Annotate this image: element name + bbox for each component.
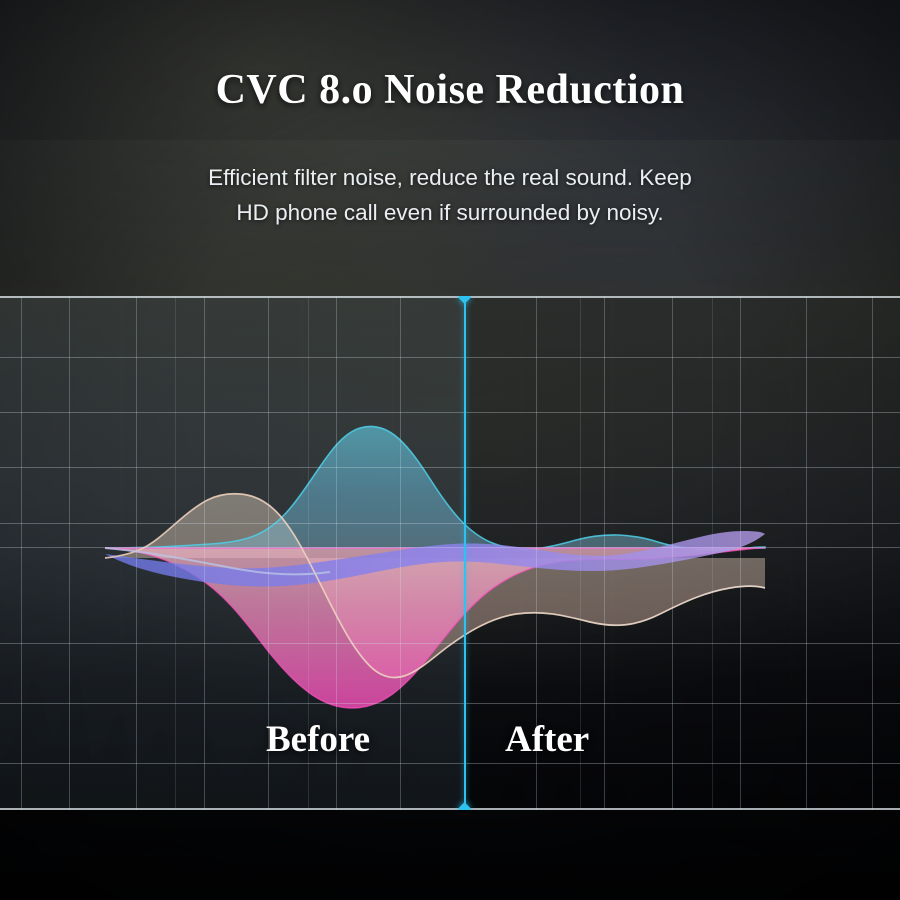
- grid-line-v: [175, 296, 176, 810]
- grid-line-h: [0, 763, 900, 764]
- grid-line-v: [672, 296, 673, 810]
- grid-line-h-top: [0, 296, 900, 298]
- page-subtitle: Efficient filter noise, reduce the real …: [0, 160, 900, 230]
- grid-line-v: [806, 296, 807, 810]
- grid-line-h: [0, 467, 900, 468]
- grid-line-v: [740, 296, 741, 810]
- grid-line-v: [204, 296, 205, 810]
- grid-line-h: [0, 523, 900, 524]
- before-after-divider[interactable]: [464, 296, 466, 810]
- waveform-chart-panel: [0, 296, 900, 810]
- label-before: Before: [266, 718, 370, 761]
- subtitle-line-2: HD phone call even if surrounded by nois…: [0, 195, 900, 230]
- chart-grid: [0, 296, 900, 810]
- grid-line-h-baseline: [0, 547, 900, 548]
- page-title: CVC 8.o Noise Reduction: [0, 66, 900, 114]
- subtitle-line-1: Efficient filter noise, reduce the real …: [0, 160, 900, 195]
- grid-line-v: [69, 296, 70, 810]
- grid-line-v: [400, 296, 401, 810]
- grid-line-h: [0, 357, 900, 358]
- grid-line-h: [0, 703, 900, 704]
- grid-line-v: [21, 296, 22, 810]
- grid-line-v: [712, 296, 713, 810]
- grid-line-v: [136, 296, 137, 810]
- grid-line-h-bottom: [0, 808, 900, 810]
- promo-banner: CVC 8.o Noise Reduction Efficient filter…: [0, 0, 900, 900]
- grid-line-v: [604, 296, 605, 810]
- grid-line-h: [0, 643, 900, 644]
- grid-line-h: [0, 412, 900, 413]
- grid-line-v: [872, 296, 873, 810]
- label-after: After: [505, 718, 589, 761]
